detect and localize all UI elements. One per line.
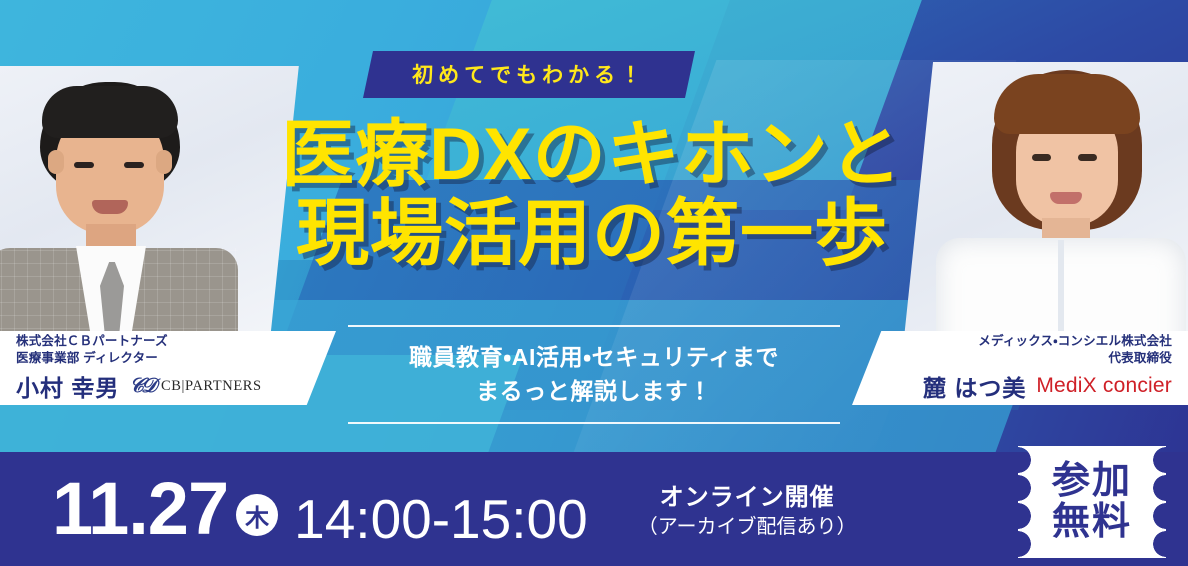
event-date-group: 11.27 木 14:00-15:00 xyxy=(52,472,588,546)
event-format-main: オンライン開催 xyxy=(638,482,857,513)
photo-eye-right xyxy=(1078,154,1097,161)
speaker-name-row: 麓 はつ美 MediX concier xyxy=(923,369,1172,403)
photo-fringe xyxy=(994,74,1140,134)
speaker-name: 小村 幸男 xyxy=(16,369,119,403)
photo-eye-left xyxy=(1032,154,1051,161)
free-badge-line-2: 無料 xyxy=(1052,502,1132,543)
photo-ear-left xyxy=(48,150,64,174)
event-details-bar: 11.27 木 14:00-15:00 オンライン開催 （アーカイブ配信あり） xyxy=(0,452,1188,566)
cb-logo-text: CB|PARTNERS xyxy=(161,378,262,395)
tagline-shape: 初めてでもわかる！ xyxy=(363,51,695,98)
cb-logo-mark: 𝒞𝒟 xyxy=(129,375,154,398)
title-line-2: 現場活用の第一歩 xyxy=(236,195,948,274)
speaker-info-right: メディックス・コンシエル株式会社 代表取締役 麓 はつ美 MediX conci… xyxy=(852,331,1188,405)
page-title: 医療DXのキホンと 現場活用の第一歩 xyxy=(236,116,948,274)
photo-fringe xyxy=(42,86,178,138)
event-date: 11.27 xyxy=(52,472,228,546)
photo-mouth xyxy=(1050,192,1082,204)
free-badge-line-1: 参加 xyxy=(1052,461,1132,502)
webinar-banner: 初めてでもわかる！ 医療DXのキホンと 現場活用の第一歩 職員教育・AI活用・セ… xyxy=(0,0,1188,566)
speaker-org-line-2: 医療事業部 ディレクター xyxy=(16,350,336,367)
speaker-name: 麓 はつ美 xyxy=(923,369,1026,403)
subtitle: 職員教育・AI活用・セキュリティまで まるっと解説します！ xyxy=(348,325,840,424)
speaker-name-row: 小村 幸男 𝒞𝒟 CB|PARTNERS xyxy=(16,369,336,403)
subtitle-line-2: まるっと解説します！ xyxy=(348,374,840,408)
cb-partners-logo: 𝒞𝒟 CB|PARTNERS xyxy=(129,375,261,398)
event-time: 14:00-15:00 xyxy=(294,492,588,547)
free-participation-badge: 参加 無料 xyxy=(1018,446,1166,558)
speaker-org-line-2: 代表取締役 xyxy=(1108,350,1172,367)
day-of-week-badge: 木 xyxy=(236,494,278,536)
tagline-text: 初めてでもわかる！ xyxy=(412,59,646,89)
title-line-1: 医療DXのキホンと xyxy=(236,116,948,195)
tagline-badge: 初めてでもわかる！ xyxy=(368,51,690,98)
photo-eye-left xyxy=(74,162,94,168)
speaker-org-line-1: メディックス・コンシエル株式会社 xyxy=(978,333,1172,350)
photo-mouth xyxy=(92,200,128,214)
subtitle-line-1: 職員教育・AI活用・セキュリティまで xyxy=(348,340,840,374)
medix-concier-logo: MediX concier xyxy=(1036,374,1172,398)
event-format: オンライン開催 （アーカイブ配信あり） xyxy=(638,482,857,539)
photo-ear-right xyxy=(156,150,172,174)
event-format-sub: （アーカイブ配信あり） xyxy=(638,514,857,540)
speaker-info-left: 株式会社ＣＢパートナーズ 医療事業部 ディレクター 小村 幸男 𝒞𝒟 CB|PA… xyxy=(0,331,336,405)
speaker-org-line-1: 株式会社ＣＢパートナーズ xyxy=(16,333,336,350)
photo-eye-right xyxy=(124,162,144,168)
